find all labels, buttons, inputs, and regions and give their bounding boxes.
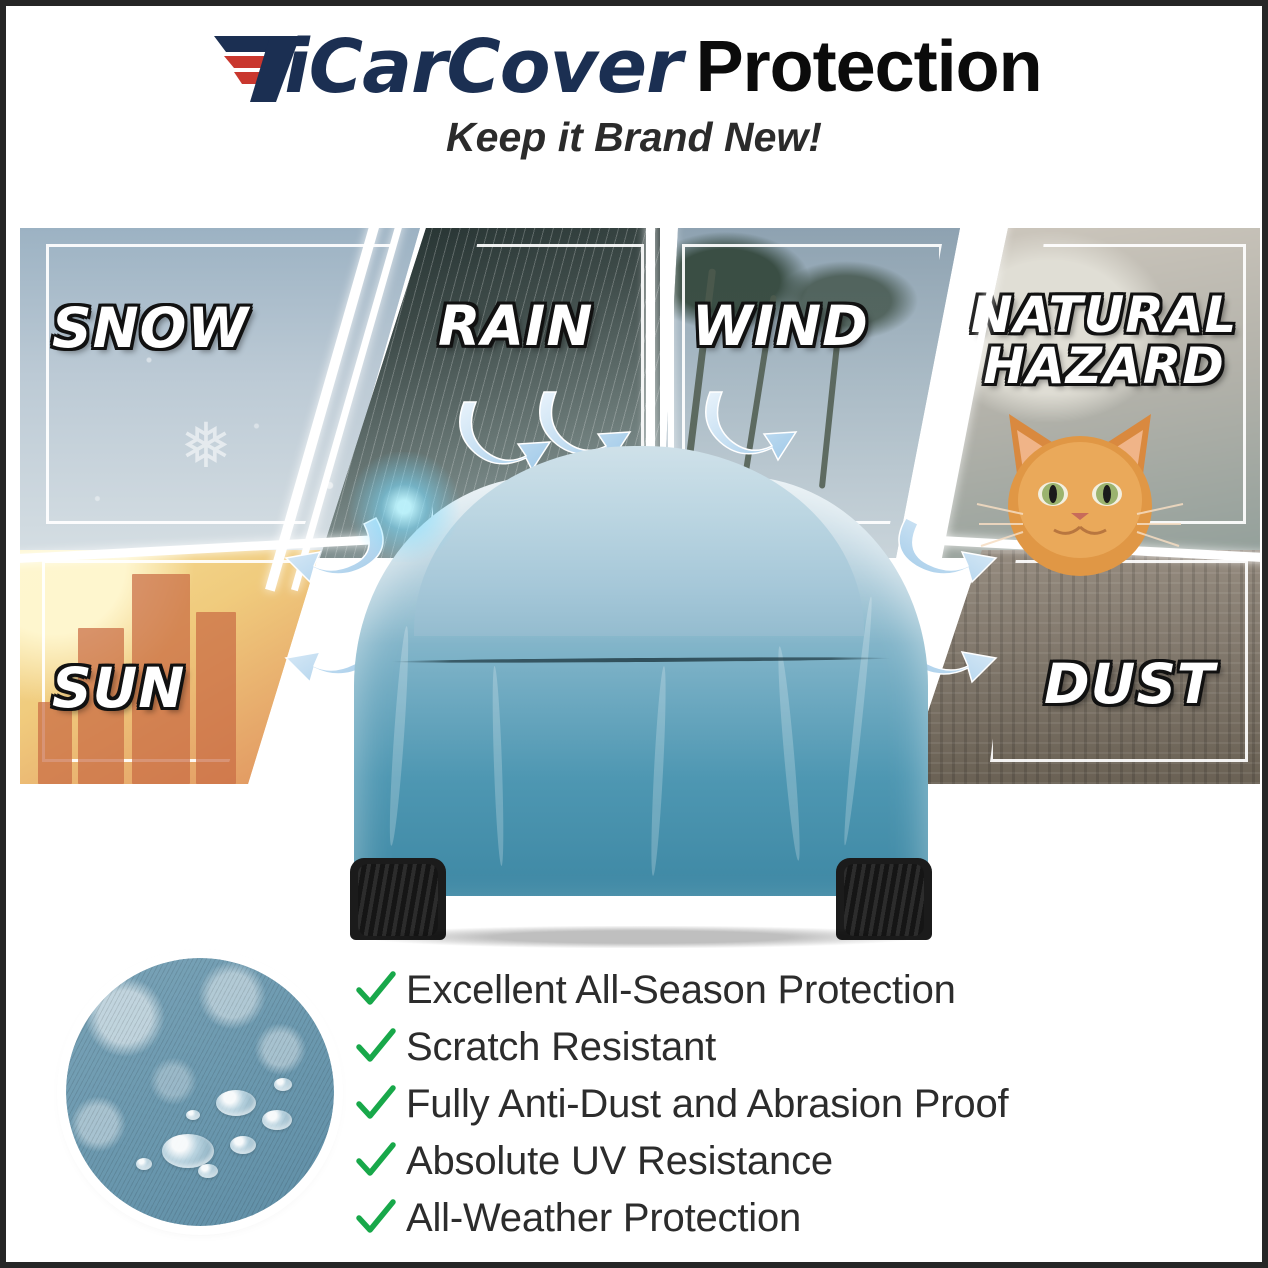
brand-name: iCarCover	[284, 30, 681, 104]
feature-item: Excellent All-Season Protection	[354, 962, 1184, 1019]
check-icon	[354, 1140, 406, 1184]
feature-item: Fully Anti-Dust and Abrasion Proof	[354, 1076, 1184, 1133]
feature-item: All-Weather Protection	[354, 1190, 1184, 1247]
collage-label-dust: DUST	[1044, 656, 1215, 712]
collage-label-sun: SUN	[52, 660, 185, 716]
car-with-cover-image	[336, 446, 946, 946]
snowflake-icon: ❅	[180, 416, 232, 478]
product-infographic: iCarCover Protection Keep it Brand New! …	[0, 0, 1268, 1268]
feature-item: Scratch Resistant	[354, 1019, 1184, 1076]
collage-label-wind: WIND	[692, 298, 869, 354]
brand-lockup: iCarCover Protection	[210, 30, 1057, 104]
fabric-texture	[66, 958, 334, 1226]
feature-label: Absolute UV Resistance	[406, 1139, 833, 1184]
feature-item: Absolute UV Resistance	[354, 1133, 1184, 1190]
tagline: Keep it Brand New!	[446, 114, 822, 161]
car-cover-roof	[414, 446, 864, 636]
header: iCarCover Protection Keep it Brand New!	[6, 6, 1262, 216]
sparkle-glow-icon	[344, 452, 464, 562]
feature-label: Fully Anti-Dust and Abrasion Proof	[406, 1082, 1008, 1127]
check-icon	[354, 1026, 406, 1070]
feature-list: Excellent All-Season Protection Scratch …	[354, 962, 1184, 1247]
brand-suffix: Protection	[696, 31, 1042, 103]
check-icon	[354, 969, 406, 1013]
water-beading-fabric-inset	[66, 958, 334, 1226]
collage-label-natural-hazard: NATURAL HAZARD	[954, 290, 1254, 392]
check-icon	[354, 1083, 406, 1127]
collage-label-snow: SNOW	[52, 300, 249, 356]
car-shadow	[376, 926, 906, 948]
check-icon	[354, 1197, 406, 1241]
feature-label: Excellent All-Season Protection	[406, 968, 956, 1013]
collage-label-rain: RAIN	[438, 298, 593, 354]
feature-label: Scratch Resistant	[406, 1025, 716, 1070]
infographic-canvas: iCarCover Protection Keep it Brand New! …	[6, 6, 1262, 1262]
feature-label: All-Weather Protection	[406, 1196, 801, 1241]
